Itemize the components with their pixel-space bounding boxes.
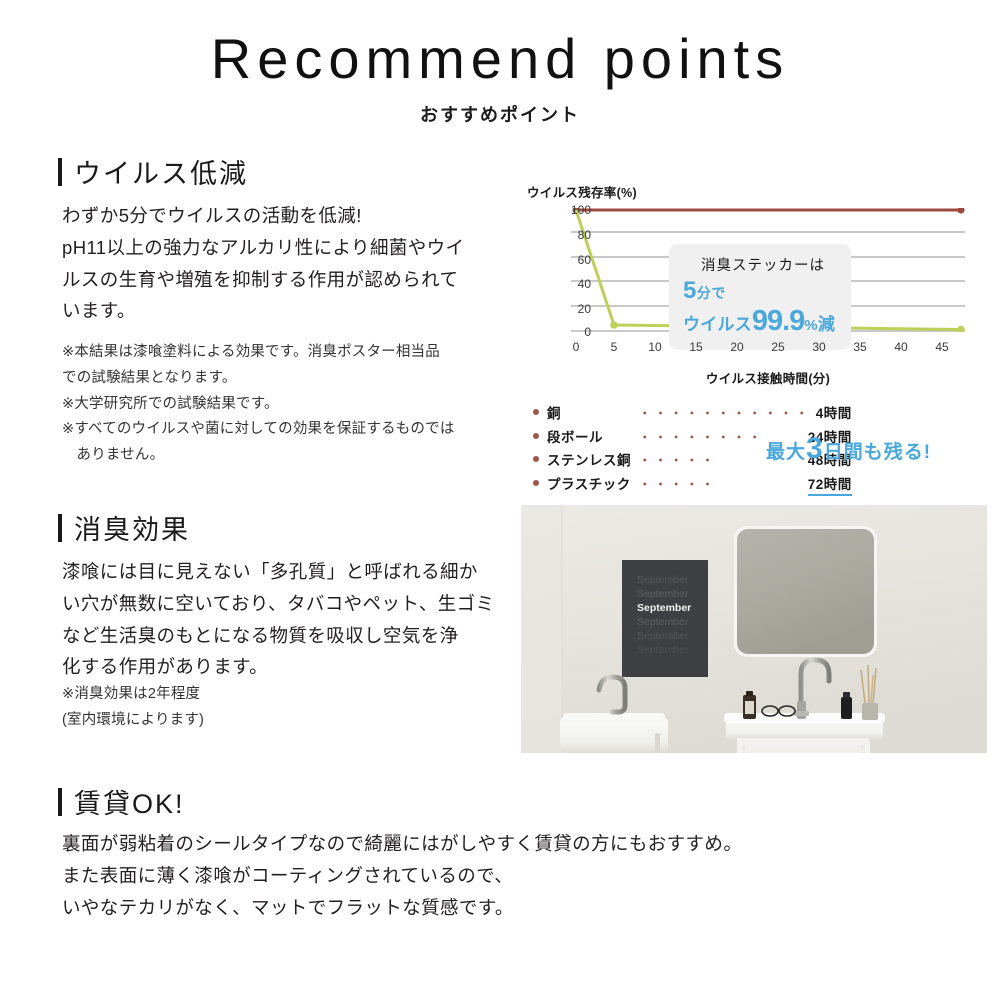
svg-text:September: September — [637, 630, 689, 642]
max-days-callout: 最大3日間も残る! — [766, 432, 931, 466]
page-header: Recommend points おすすめポイント — [0, 30, 1000, 127]
note-line: ※本結果は漆喰塗料による効果です。消臭ポスター相当品 — [62, 340, 518, 366]
body-line: pH11以上の強力なアルカリ性により細菌やウイ — [62, 232, 514, 264]
note-line: (室内環境によります) — [62, 708, 514, 734]
recommend-points-page: Recommend points おすすめポイント ウイルス低減 わずか5分でウ… — [0, 0, 1000, 1000]
note-line: ※大学研究所での試験結果です。 — [62, 392, 518, 418]
series-point-control-end — [957, 208, 964, 214]
svg-text:September: September — [637, 588, 689, 600]
callout-line-1: 消臭ステッカーは — [683, 254, 843, 275]
body-line: わずか5分でウイルスの活動を低減! — [62, 200, 514, 232]
heading-accent-bar-icon — [58, 158, 62, 186]
section-body-deodorizing: 漆喰には目に見えない「多孔質」と呼ばれる細か い穴が無数に空いており、タバコやペ… — [62, 556, 514, 683]
series-point-sticker-end — [957, 326, 965, 332]
bathroom-photo: September September September September … — [521, 505, 987, 753]
legend-label: プラスチック — [547, 473, 633, 493]
max-days-suffix: 日間も残る! — [824, 442, 931, 463]
note-line: での試験結果となります。 — [62, 366, 518, 392]
x-tick-30: 30 — [812, 340, 825, 354]
y-tick-80: 80 — [551, 228, 591, 242]
legend-bullet-icon — [533, 456, 539, 462]
x-tick-0: 0 — [573, 340, 580, 354]
svg-text:September: September — [637, 602, 691, 614]
legend-leader-dots: ・・・・・・・・・・・ — [638, 402, 811, 422]
section-notes-deodorizing: ※消臭効果は2年程度 (室内環境によります) — [62, 682, 514, 734]
body-line: など生活臭のもとになる物質を吸収し空気を浄 — [62, 620, 514, 652]
legend-label: ステンレス銅 — [547, 449, 633, 469]
x-tick-20: 20 — [730, 340, 743, 354]
svg-text:September: September — [637, 574, 689, 586]
x-tick-35: 35 — [853, 340, 866, 354]
section-heading-deodorizing: 消臭効果 — [58, 508, 190, 547]
body-line: い穴が無数に空いており、タバコやペット、生ゴミ — [62, 588, 514, 620]
y-tick-60: 60 — [551, 253, 591, 267]
x-tick-45: 45 — [935, 340, 948, 354]
section-body-virus-reduction: わずか5分でウイルスの活動を低減! pH11以上の強力なアルカリ性により細菌やウ… — [62, 200, 514, 327]
svg-text:September: September — [637, 616, 689, 628]
x-tick-40: 40 — [894, 340, 907, 354]
legend-item: プラスチック ・・・・・ 72時間 — [533, 473, 852, 496]
callout-line-2: 5分で — [683, 277, 843, 305]
y-tick-0: 0 — [551, 325, 591, 339]
y-tick-40: 40 — [551, 277, 591, 291]
svg-text:September: September — [637, 644, 689, 656]
section-title: 賃貸OK! — [74, 782, 185, 821]
series-point-sticker-5min — [610, 321, 618, 329]
callout-minutes-number: 5 — [683, 277, 697, 304]
body-line: 化する作用があります。 — [62, 651, 514, 683]
legend-leader-dots: ・・・・・ — [638, 473, 803, 493]
section-heading-virus-reduction: ウイルス低減 — [58, 152, 248, 191]
x-tick-15: 15 — [689, 340, 702, 354]
note-line: ありません。 — [62, 443, 518, 469]
chart-plot-area: 消臭ステッカーは 5分で ウイルス99.9%減 — [571, 208, 965, 332]
callout-line-3: ウイルス99.9%減 — [683, 305, 843, 338]
x-tick-25: 25 — [771, 340, 784, 354]
callout-minutes-unit: 分 — [697, 285, 712, 301]
heading-accent-bar-icon — [58, 788, 62, 816]
legend-value: 72時間 — [808, 473, 852, 496]
body-line: います。 — [62, 295, 514, 327]
legend-bullet-icon — [533, 409, 539, 415]
legend-label: 銅 — [547, 402, 633, 422]
x-tick-10: 10 — [648, 340, 661, 354]
page-title: Recommend points — [0, 30, 1000, 89]
note-line: ※消臭効果は2年程度 — [62, 682, 514, 708]
y-tick-20: 20 — [551, 302, 591, 316]
y-tick-100: 100 — [551, 203, 591, 217]
bathroom-photo-svg: September September September September … — [521, 505, 987, 753]
section-heading-rental-ok: 賃貸OK! — [58, 782, 185, 821]
section-title: 消臭効果 — [74, 508, 190, 547]
chart-y-axis-label: ウイルス残存率(%) — [527, 182, 637, 201]
legend-label: 段ボール — [547, 426, 633, 446]
body-line: いやなテカリがなく、マットでフラットな質感です。 — [62, 892, 822, 924]
callout-percent-number: 99.9 — [752, 305, 804, 337]
section-body-rental-ok: 裏面が弱粘着のシールタイプなので綺麗にはがしやすく賃貸の方にもおすすめ。 また表… — [62, 828, 822, 923]
body-line: 漆喰には目に見えない「多孔質」と呼ばれる細か — [62, 556, 514, 588]
x-tick-5: 5 — [611, 340, 618, 354]
callout-percent-sign: % — [804, 317, 818, 334]
chart-callout-bubble: 消臭ステッカーは 5分で ウイルス99.9%減 — [669, 244, 851, 350]
legend-value: 4時間 — [816, 402, 852, 422]
legend-item: 銅 ・・・・・・・・・・・ 4時間 — [533, 402, 852, 422]
callout-minutes-tail: で — [711, 285, 726, 301]
callout-virus-word: ウイルス — [683, 315, 752, 334]
body-line: 裏面が弱粘着のシールタイプなので綺麗にはがしやすく賃貸の方にもおすすめ。 — [62, 828, 822, 860]
page-subtitle: おすすめポイント — [0, 101, 1000, 127]
note-line: ※すべてのウイルスや菌に対しての効果を保証するものでは — [62, 417, 518, 443]
heading-accent-bar-icon — [58, 514, 62, 542]
chart-x-axis-label: ウイルス接触時間(分) — [571, 368, 965, 387]
callout-reduce-word: 減 — [818, 315, 835, 334]
section-notes-virus-reduction: ※本結果は漆喰塗料による効果です。消臭ポスター相当品 での試験結果となります。 … — [62, 340, 518, 469]
body-line: ルスの生育や増殖を抑制する作用が認められて — [62, 264, 514, 296]
virus-survival-chart: ウイルス残存率(%) 消臭ステッカーは 5分で — [527, 182, 995, 387]
max-days-number: 3 — [806, 432, 824, 465]
body-line: また表面に薄く漆喰がコーティングされているので、 — [62, 860, 822, 892]
legend-bullet-icon — [533, 433, 539, 439]
section-title: ウイルス低減 — [74, 152, 248, 191]
max-days-prefix: 最大 — [766, 442, 806, 463]
legend-bullet-icon — [533, 480, 539, 486]
